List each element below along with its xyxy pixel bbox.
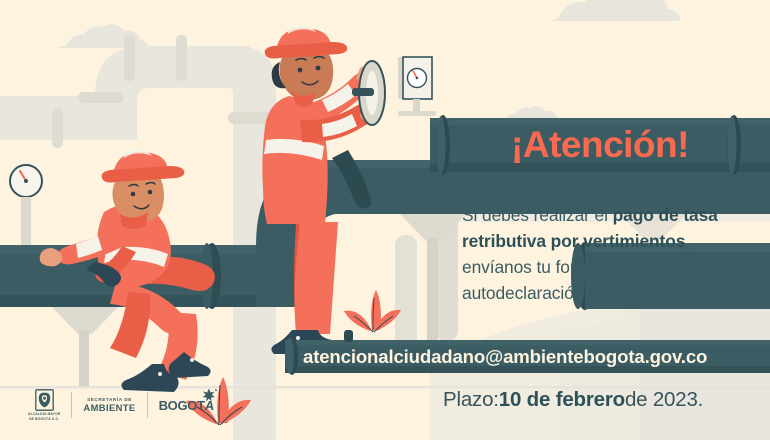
alcaldia-line1: ALCALDÍA MAYOR	[28, 412, 60, 416]
body-copy: Si debes realizar el pago de tasa retrib…	[462, 202, 762, 306]
deadline-label: Plazo:	[443, 388, 499, 412]
deadline-text: Plazo: 10 de febrero de 2023.	[443, 386, 770, 414]
logo-bogota: BOGOTA	[159, 399, 214, 412]
email-address[interactable]: atencionalciudadano@ambientebogota.gov.c…	[285, 340, 770, 373]
deadline-suffix: de 2023.	[625, 388, 703, 412]
logo-divider-2	[147, 392, 148, 418]
logo-bar: ALCALDÍA MAYOR DE BOGOTÁ D.C. SECRETARÍA…	[28, 388, 214, 422]
body-segment-0: Si debes realizar el	[462, 205, 613, 225]
secretaria-line2: AMBIENTE	[83, 402, 135, 413]
poster-canvas: ¡Atención! Si debes realizar el pago de …	[0, 0, 770, 440]
page-title: ¡Atención!	[430, 118, 770, 170]
bogota-coat-of-arms	[35, 389, 54, 411]
logo-alcaldia-mayor: ALCALDÍA MAYOR DE BOGOTÁ D.C.	[28, 389, 60, 421]
logo-secretaria-ambiente: SECRETARÍA DE AMBIENTE	[83, 397, 135, 413]
bogota-accent-letter: A	[204, 399, 215, 412]
alcaldia-caption: ALCALDÍA MAYOR DE BOGOTÁ D.C.	[28, 412, 60, 421]
deadline-date: 10 de febrero	[499, 388, 625, 412]
bogota-wordmark: BOGOTA	[159, 399, 214, 412]
bogota-word-text: BOGOT	[159, 398, 205, 413]
logo-divider-1	[71, 392, 72, 418]
alcaldia-line2: DE BOGOTÁ D.C.	[29, 417, 59, 421]
